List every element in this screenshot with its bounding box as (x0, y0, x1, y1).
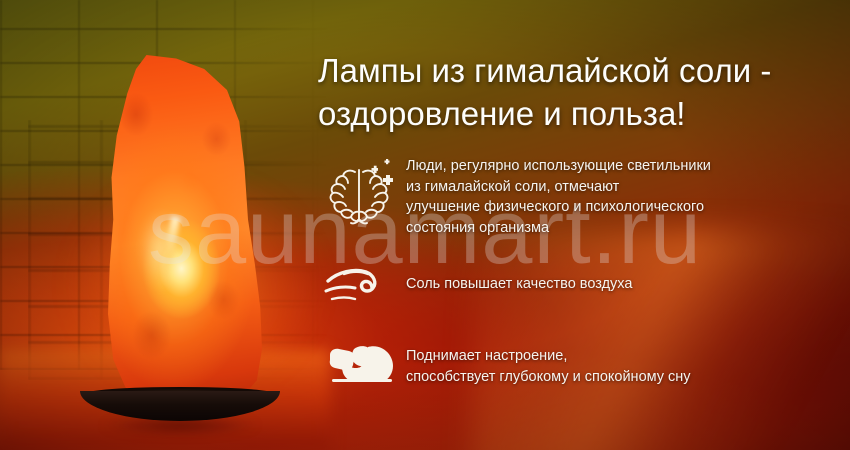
wind-swirl-icon (318, 254, 406, 318)
benefit-line: из гималайской соли, отмечают (406, 177, 838, 198)
benefit-text-health: Люди, регулярно использующие светильники… (406, 152, 838, 238)
benefit-line: Соль повышает качество воздуха (406, 274, 838, 295)
brain-plus-icon (318, 152, 406, 232)
sleeping-person-icon (318, 332, 406, 398)
page-title: Лампы из гималайской соли - оздоровление… (318, 50, 838, 136)
benefit-line: способствует глубокому и спокойному сну (406, 367, 838, 388)
salt-lamp-promo-banner: saunamart.ru Лампы из гималайской соли -… (0, 0, 850, 450)
benefit-item-health: Люди, регулярно использующие светильники… (318, 152, 838, 238)
benefit-text-sleep: Поднимает настроение, способствует глубо… (406, 332, 838, 387)
benefit-line: Поднимает настроение, (406, 346, 838, 367)
benefits-list: Люди, регулярно использующие светильники… (318, 152, 838, 398)
benefit-text-air-quality: Соль повышает качество воздуха (406, 254, 838, 295)
benefit-item-air-quality: Соль повышает качество воздуха (318, 254, 838, 318)
benefit-line: улучшение физического и психологического (406, 197, 838, 218)
headline-line-2: оздоровление и польза! (318, 93, 838, 136)
benefit-item-sleep: Поднимает настроение, способствует глубо… (318, 332, 838, 398)
headline-line-1: Лампы из гималайской соли - (318, 52, 771, 89)
benefit-line: Люди, регулярно использующие светильники (406, 156, 838, 177)
benefit-line: состояния организма (406, 218, 838, 239)
himalayan-salt-lamp-image (80, 55, 280, 430)
lamp-salt-rock (94, 55, 269, 405)
